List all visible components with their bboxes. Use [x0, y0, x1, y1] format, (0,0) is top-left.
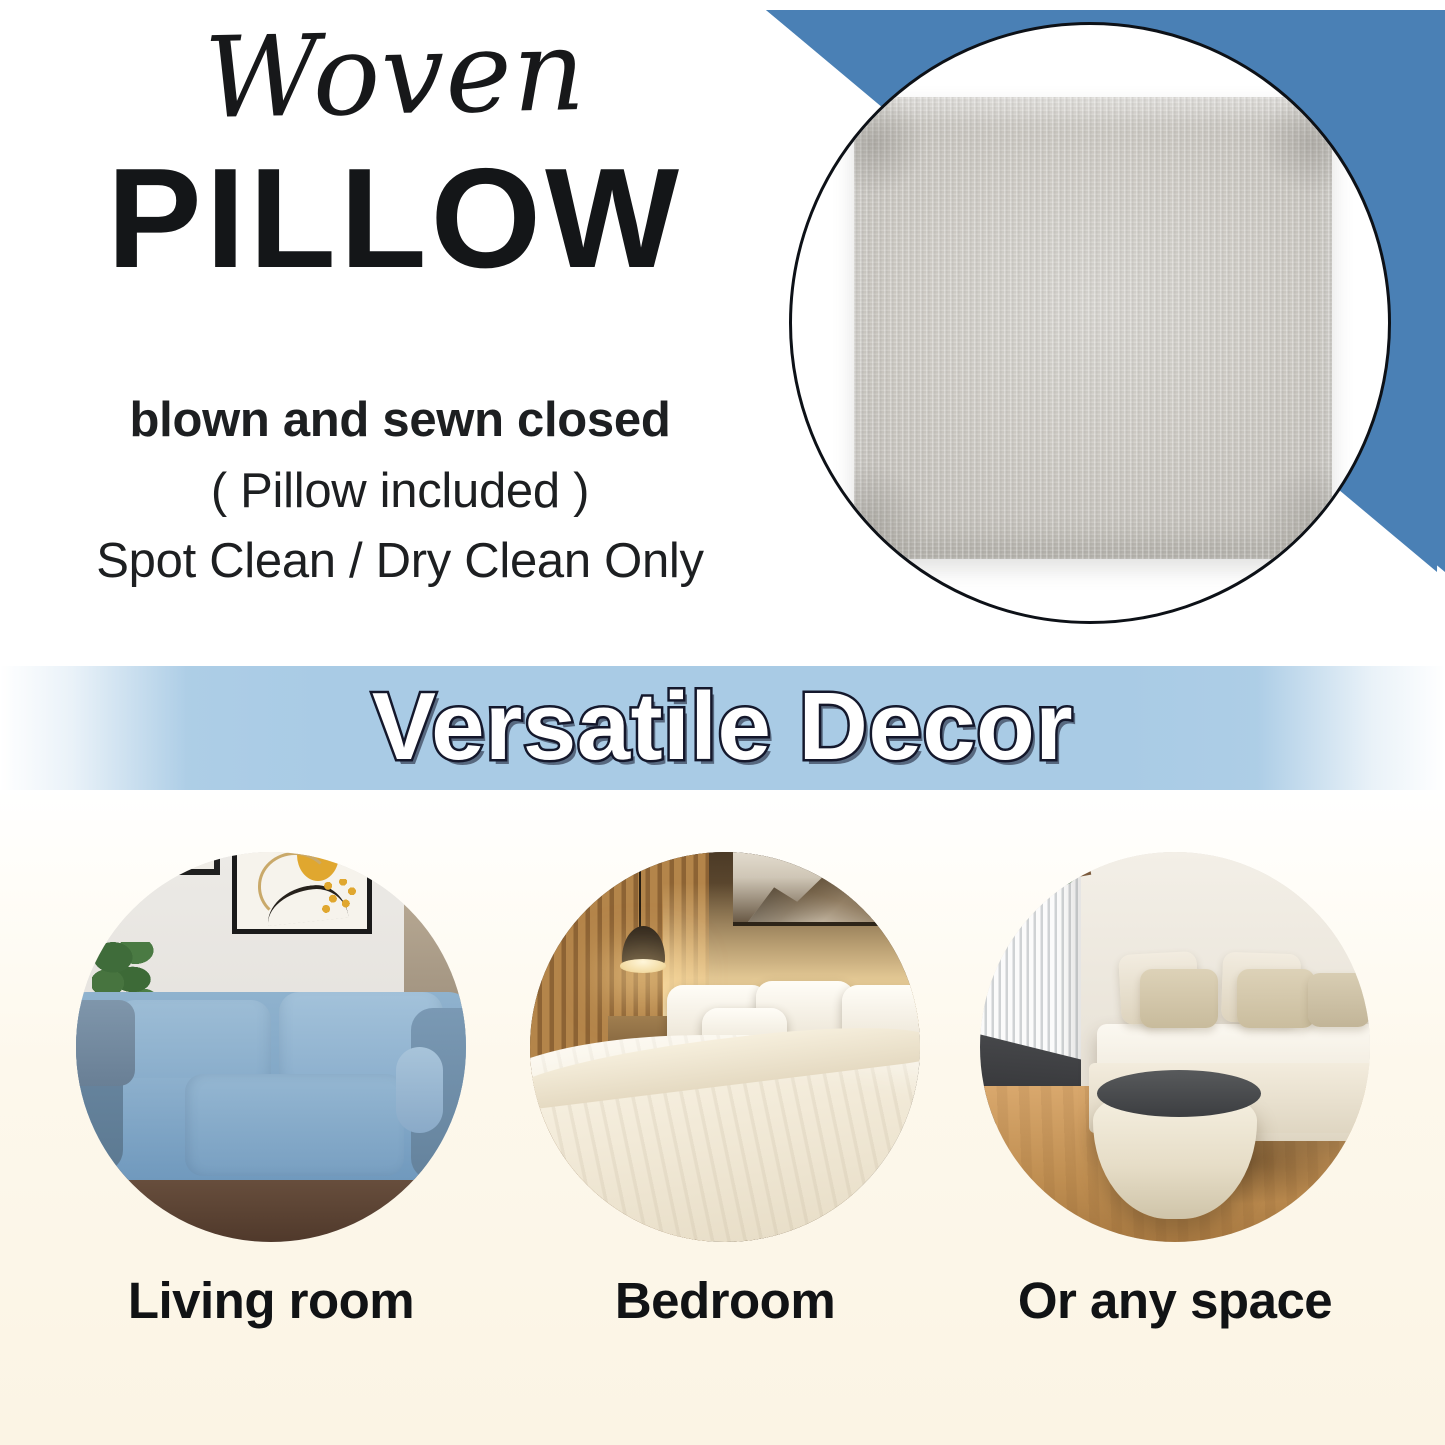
- living-room-scene: [76, 852, 466, 1242]
- room-showcase-row: Living room: [0, 852, 1445, 1322]
- woven-pillow-image: [854, 97, 1332, 559]
- page-title: PILLOW: [0, 148, 790, 290]
- description-line-1: blown and sewn closed: [0, 385, 800, 456]
- bedroom-scene: [530, 852, 920, 1242]
- versatile-decor-banner: Versatile Decor: [0, 666, 1445, 792]
- upper-section: Woven PILLOW blown and sewn closed ( Pil…: [0, 0, 1445, 668]
- lower-section: Living room: [0, 790, 1445, 1445]
- headline-block: Woven PILLOW: [0, 18, 790, 290]
- room-item-any-space: Or any space: [980, 852, 1370, 1326]
- description-line-3: Spot Clean / Dry Clean Only: [0, 526, 800, 597]
- room-photo-any-space: [980, 852, 1370, 1242]
- room-label-living-room: Living room: [76, 1275, 466, 1326]
- banner-title: Versatile Decor: [372, 679, 1073, 775]
- description-block: blown and sewn closed ( Pillow included …: [0, 385, 800, 597]
- room-photo-bedroom: [530, 852, 920, 1242]
- room-label-bedroom: Bedroom: [530, 1275, 920, 1326]
- wall-art-frame-icon: [232, 852, 372, 934]
- any-space-scene: [980, 852, 1370, 1242]
- hero-product-circle: [789, 22, 1391, 624]
- landscape-wall-art-icon: [733, 852, 920, 926]
- room-label-any-space: Or any space: [980, 1275, 1370, 1326]
- script-title: Woven: [0, 10, 791, 141]
- room-photo-living-room: [76, 852, 466, 1242]
- room-item-living-room: Living room: [76, 852, 466, 1326]
- product-infographic-poster: Woven PILLOW blown and sewn closed ( Pil…: [0, 0, 1445, 1445]
- room-item-bedroom: Bedroom: [530, 852, 920, 1326]
- description-line-2: ( Pillow included ): [0, 456, 800, 527]
